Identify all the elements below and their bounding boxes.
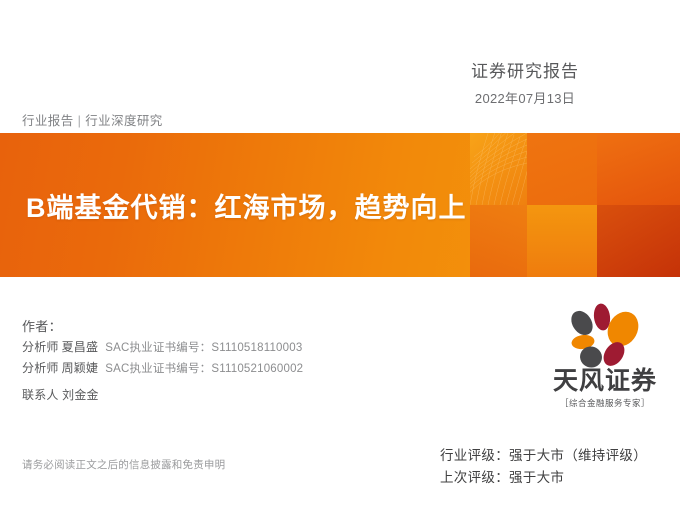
- decorative-block-1: [470, 133, 527, 205]
- author-name: 周颖婕: [62, 361, 99, 375]
- page-title: B端基金代销：红海市场，趋势向上: [26, 133, 467, 277]
- industry-rating-value: 强于大市（维持评级）: [509, 448, 647, 463]
- page-body: 作者： 分析师夏昌盛SAC执业证书编号：S1110518110003 分析师周颖…: [0, 277, 680, 510]
- logo-company-name: 天风证券: [540, 366, 670, 396]
- decorative-block-2: [527, 133, 597, 205]
- breadcrumb: 行业报告|行业深度研究: [22, 110, 163, 129]
- decorative-block-grid: [470, 133, 680, 277]
- breadcrumb-separator: |: [78, 114, 82, 128]
- decorative-block-5: [527, 205, 597, 277]
- previous-rating-label: 上次评级：: [440, 470, 509, 485]
- logo-tagline: ［综合金融服务专家］: [540, 397, 670, 409]
- industry-rating-label: 行业评级：: [440, 448, 509, 463]
- author-cert-number: S1110521060002: [211, 363, 303, 375]
- title-banner: B端基金代销：红海市场，趋势向上: [0, 133, 680, 277]
- ratings-block: 行业评级：强于大市（维持评级） 上次评级：强于大市: [440, 445, 647, 489]
- author-cert-label: SAC执业证书编号：: [105, 342, 211, 354]
- report-type-label: 证券研究报告: [430, 60, 620, 84]
- author-cert-number: S1110518110003: [211, 342, 302, 354]
- author-row: 分析师周颖婕SAC执业证书编号：S1110521060002: [22, 358, 303, 379]
- company-logo: 天风证券 ［综合金融服务专家］: [540, 302, 670, 422]
- decorative-block-6: [597, 205, 680, 277]
- author-role: 分析师: [22, 340, 59, 354]
- report-cover-page: 证券研究报告 2022年07月13日 行业报告|行业深度研究: [0, 0, 680, 510]
- author-role: 分析师: [22, 361, 59, 375]
- breadcrumb-category: 行业报告: [22, 114, 74, 128]
- disclaimer-text: 请务必阅读正文之后的信息披露和免责申明: [22, 457, 225, 472]
- page-header: 证券研究报告 2022年07月13日 行业报告|行业深度研究: [0, 0, 680, 133]
- contact-name: 刘金金: [62, 388, 99, 402]
- header-right-block: 证券研究报告 2022年07月13日: [430, 60, 620, 109]
- authors-block: 作者： 分析师夏昌盛SAC执业证书编号：S1110518110003 分析师周颖…: [22, 316, 303, 405]
- author-row: 分析师夏昌盛SAC执业证书编号：S1110518110003: [22, 337, 303, 358]
- author-name: 夏昌盛: [62, 340, 99, 354]
- authors-heading: 作者：: [22, 316, 303, 337]
- contact-row: 联系人 刘金金: [22, 385, 303, 405]
- previous-rating-value: 强于大市: [509, 470, 564, 485]
- decorative-block-4: [470, 205, 527, 277]
- decorative-block-3: [597, 133, 680, 205]
- report-date: 2022年07月13日: [430, 89, 620, 109]
- contact-role: 联系人: [22, 388, 59, 402]
- breadcrumb-subcategory: 行业深度研究: [85, 114, 162, 128]
- logo-flower-icon: [540, 302, 670, 368]
- industry-rating-row: 行业评级：强于大市（维持评级）: [440, 445, 647, 467]
- mesh-pattern-icon: [470, 133, 527, 205]
- previous-rating-row: 上次评级：强于大市: [440, 467, 647, 489]
- author-cert-label: SAC执业证书编号：: [105, 363, 211, 375]
